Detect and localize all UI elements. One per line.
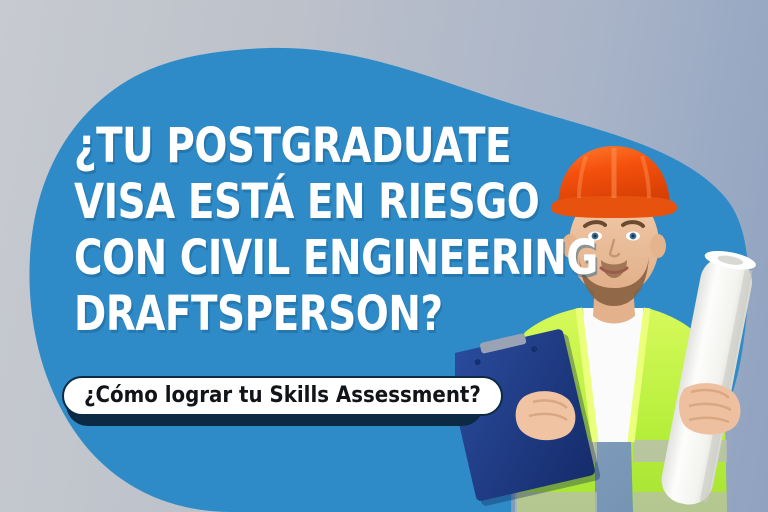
promo-banner: ¿TU POSTGRADUATE VISA ESTÁ EN RIESGO CON…	[0, 0, 768, 512]
cta-pill-label: ¿Cómo lograr tu Skills Assessment?	[84, 383, 481, 408]
headline-line-2: VISA ESTÁ EN RIESGO	[74, 174, 524, 230]
headline-line-1: ¿TU POSTGRADUATE	[74, 118, 524, 174]
headline-line-4: DRAFTSPERSON?	[74, 286, 524, 342]
cta-pill-wrapper[interactable]: ¿Cómo lograr tu Skills Assessment?	[62, 376, 503, 416]
cta-pill[interactable]: ¿Cómo lograr tu Skills Assessment?	[62, 376, 503, 416]
headline: ¿TU POSTGRADUATE VISA ESTÁ EN RIESGO CON…	[74, 118, 524, 342]
headline-line-3: CON CIVIL ENGINEERING	[74, 230, 524, 286]
